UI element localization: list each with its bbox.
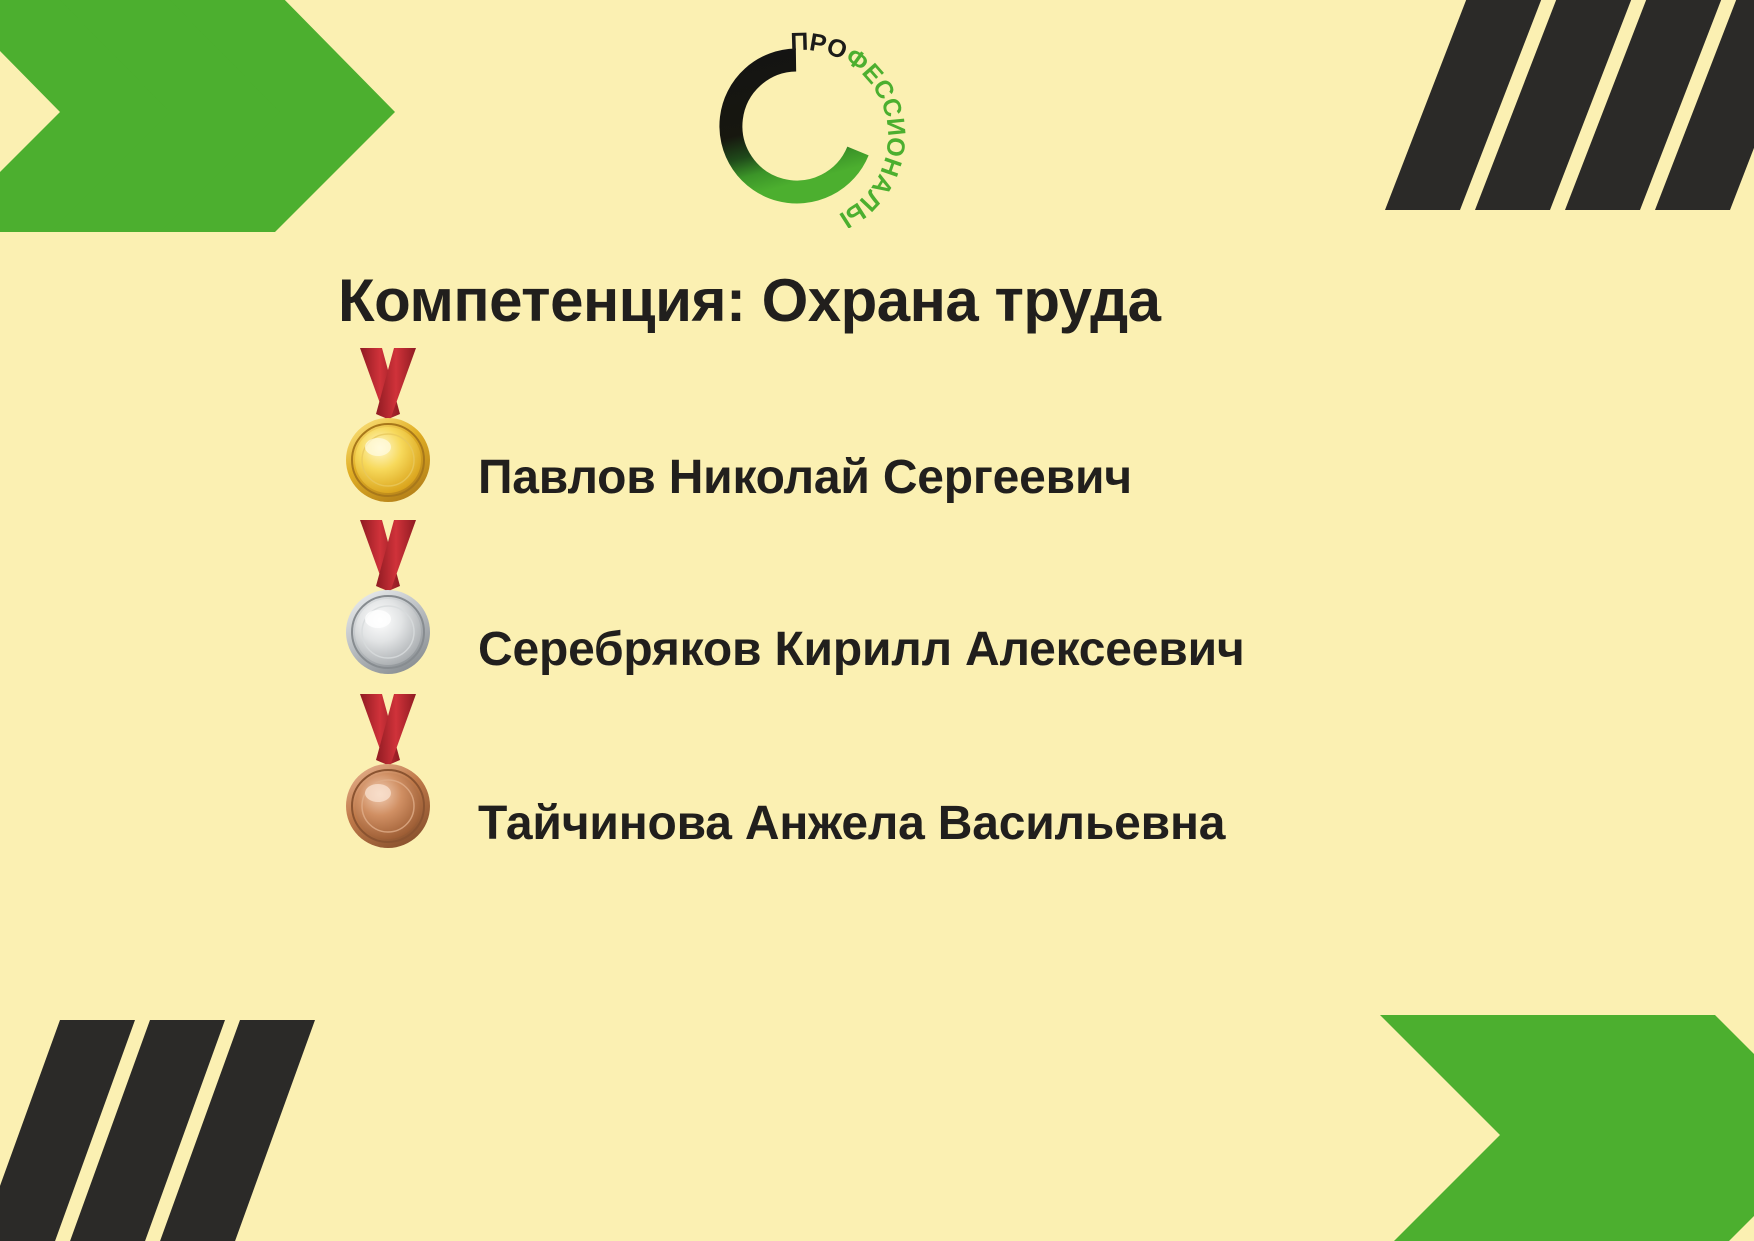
winner-name-bronze: Тайчинова Анжела Васильевна (478, 796, 1225, 851)
slashes-top-right-group (1385, 0, 1754, 210)
chevron-bottom-right-group (1380, 1015, 1754, 1241)
logo-ring (731, 60, 858, 192)
winner-name-silver: Серебряков Кирилл Алексеевич (478, 622, 1245, 677)
chevron-top-left-group (0, 0, 395, 232)
winner-name-gold: Павлов Николай Сергеевич (478, 450, 1132, 505)
logo-text-green: ФЕССИОНАЛЫ (835, 42, 911, 228)
silver-medal-icon (338, 520, 448, 710)
logo-text-green-path: ФЕССИОНАЛЫ (835, 42, 911, 228)
professionaly-logo: ПРО ФЕССИОНАЛЫ (676, 8, 916, 228)
bronze-medal-icon (338, 694, 448, 884)
logo-text-dark-path: ПРО (790, 28, 851, 66)
svg-text:ПРО: ПРО (790, 28, 851, 66)
slide-root: ПРО ФЕССИОНАЛЫ Компетенция: Охрана труда (0, 0, 1754, 1241)
page-title: Компетенция: Охрана труда (338, 269, 1438, 332)
slashes-bottom-left-group (0, 1020, 315, 1241)
gold-medal-icon (338, 348, 448, 538)
svg-text:ФЕССИОНАЛЫ: ФЕССИОНАЛЫ (835, 42, 911, 228)
logo-text-dark: ПРО (790, 28, 851, 66)
